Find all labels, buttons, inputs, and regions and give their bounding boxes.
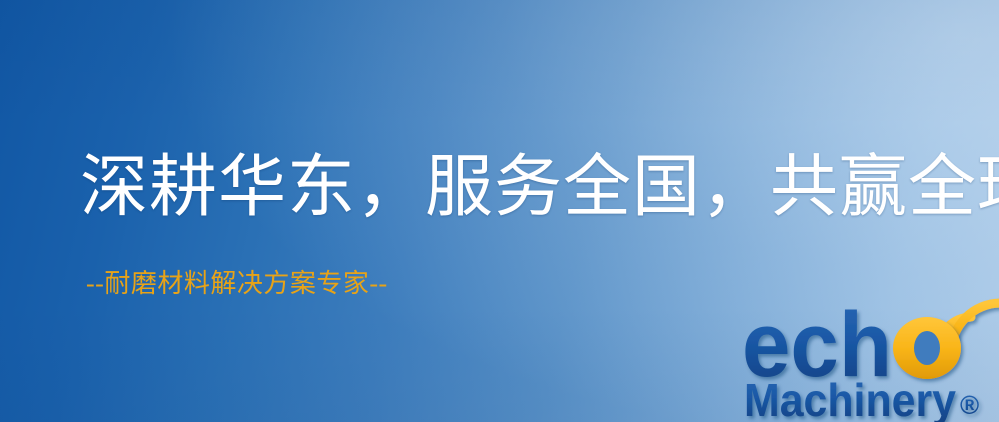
logo-registered-mark: ® [960, 390, 979, 420]
banner-headline: 深耕华东，服务全国，共赢全球 [80, 152, 999, 223]
promotional-banner: 深耕华东，服务全国，共赢全球 --耐磨材料解决方案专家-- [0, 0, 999, 422]
banner-subtitle: --耐磨材料解决方案专家-- [86, 268, 388, 299]
echo-machinery-logo[interactable]: ech Machinery ® [742, 300, 999, 422]
logo-wordmark-o [893, 317, 961, 379]
logo-tagline: Machinery [744, 374, 956, 422]
